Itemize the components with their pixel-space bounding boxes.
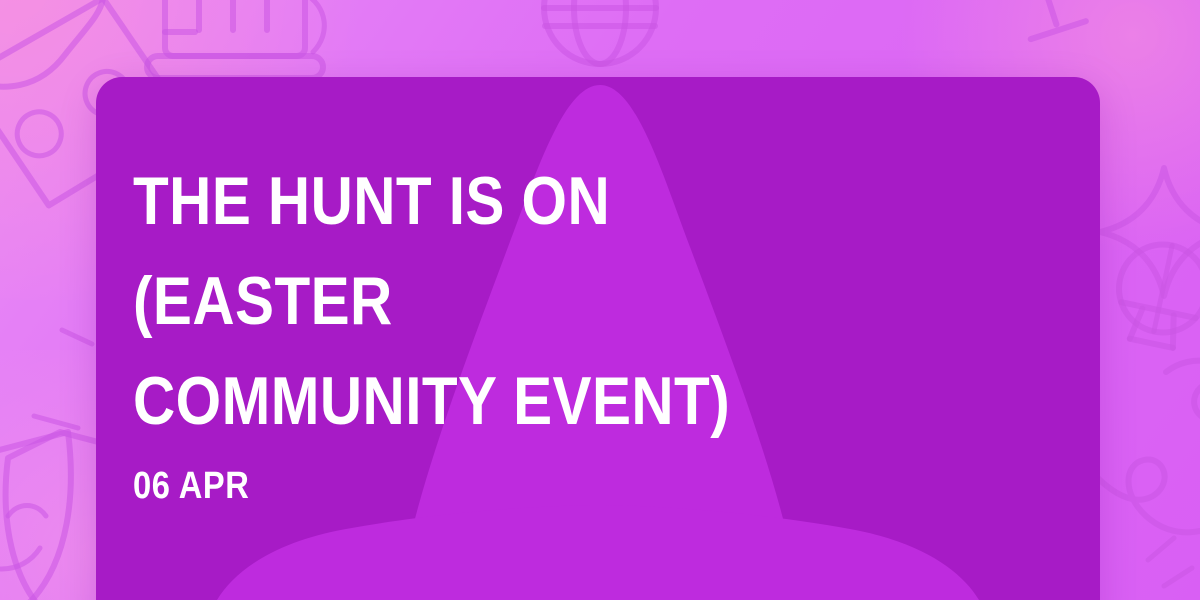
event-banner: The Hunt Is On (Easter Community Event) … [0,0,1200,600]
event-card[interactable]: The Hunt Is On (Easter Community Event) … [96,77,1100,600]
event-title: The Hunt Is On (Easter Community Event) [133,151,735,451]
event-date: 06 Apr [133,463,249,509]
card-content: The Hunt Is On (Easter Community Event) … [133,77,1100,600]
